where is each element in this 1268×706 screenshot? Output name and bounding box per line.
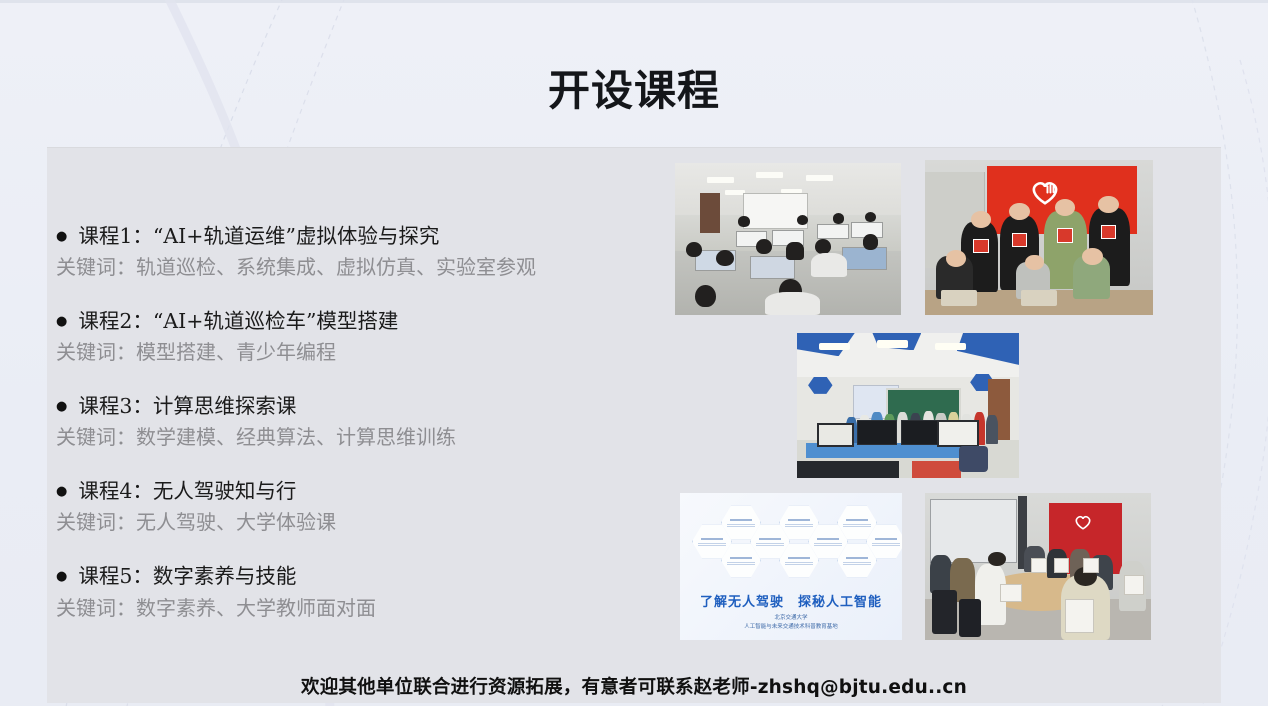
autonomous-driving-slide-image: 了解无人驾驶 探秘人工智能 北京交通大学 人工智能与未来交通技术科普教育基地 [680, 493, 902, 640]
course-keywords: 关键词：数学建模、经典算法、计算思维训练 [56, 423, 656, 452]
course-keywords: 关键词：数字素养、大学教师面对面 [56, 594, 656, 623]
course-title-row: ● 课程4：无人驾驶知与行 [56, 477, 656, 506]
course-item: ● 课程1：“AI+轨道运维”虚拟体验与探究 关键词：轨道巡检、系统集成、虚拟仿… [56, 222, 656, 282]
bullet-icon: ● [56, 230, 67, 243]
bullet-icon: ● [56, 570, 67, 583]
round-table-students-photo [925, 493, 1151, 640]
course-keywords: 关键词：模型搭建、青少年编程 [56, 338, 656, 367]
course-item: ● 课程3：计算思维探索课 关键词：数学建模、经典算法、计算思维训练 [56, 392, 656, 452]
slide-subtitle-university: 北京交通大学 [680, 613, 902, 621]
course-title-text: 课程3：计算思维探索课 [78, 392, 296, 421]
slide-subtitle-base: 人工智能与未来交通技术科普教育基地 [680, 622, 902, 630]
slide-top-border [0, 0, 1268, 3]
course-keywords: 关键词：无人驾驶、大学体验课 [56, 508, 656, 537]
course-keywords: 关键词：轨道巡检、系统集成、虚拟仿真、实验室参观 [56, 253, 656, 282]
bullet-icon: ● [56, 400, 67, 413]
computer-lab-photo [675, 163, 901, 315]
course-title-text: 课程5：数字素养与技能 [78, 562, 296, 591]
presentation-slide: 开设课程 ● 课程1：“AI+轨道运维”虚拟体验与探究 关键词：轨道巡检、系统集… [0, 0, 1268, 706]
course-item: ● 课程2：“AI+轨道巡检车”模型搭建 关键词：模型搭建、青少年编程 [56, 307, 656, 367]
course-title-text: 课程4：无人驾驶知与行 [78, 477, 296, 506]
course-title-text: 课程1：“AI+轨道运维”虚拟体验与探究 [78, 222, 439, 251]
heart-logo-icon [1074, 514, 1092, 530]
course-title-row: ● 课程2：“AI+轨道巡检车”模型搭建 [56, 307, 656, 336]
course-list: ● 课程1：“AI+轨道运维”虚拟体验与探究 关键词：轨道巡检、系统集成、虚拟仿… [56, 222, 656, 623]
course-item: ● 课程4：无人驾驶知与行 关键词：无人驾驶、大学体验课 [56, 477, 656, 537]
volunteer-team-photo [925, 160, 1153, 315]
hexagon-diagram [680, 503, 902, 565]
slide-headline: 了解无人驾驶 探秘人工智能 [680, 591, 902, 610]
course-title-row: ● 课程5：数字素养与技能 [56, 562, 656, 591]
classroom-group-photo [797, 333, 1019, 478]
bullet-icon: ● [56, 315, 67, 328]
bullet-icon: ● [56, 485, 67, 498]
footer-contact-note: 欢迎其他单位联合进行资源拓展，有意者可联系赵老师-zhshq@bjtu.edu.… [0, 673, 1268, 699]
course-item: ● 课程5：数字素养与技能 关键词：数字素养、大学教师面对面 [56, 562, 656, 622]
heart-hand-logo-icon [1030, 179, 1060, 205]
course-title-text: 课程2：“AI+轨道巡检车”模型搭建 [78, 307, 398, 336]
course-title-row: ● 课程3：计算思维探索课 [56, 392, 656, 421]
course-title-row: ● 课程1：“AI+轨道运维”虚拟体验与探究 [56, 222, 656, 251]
page-title: 开设课程 [0, 57, 1268, 118]
